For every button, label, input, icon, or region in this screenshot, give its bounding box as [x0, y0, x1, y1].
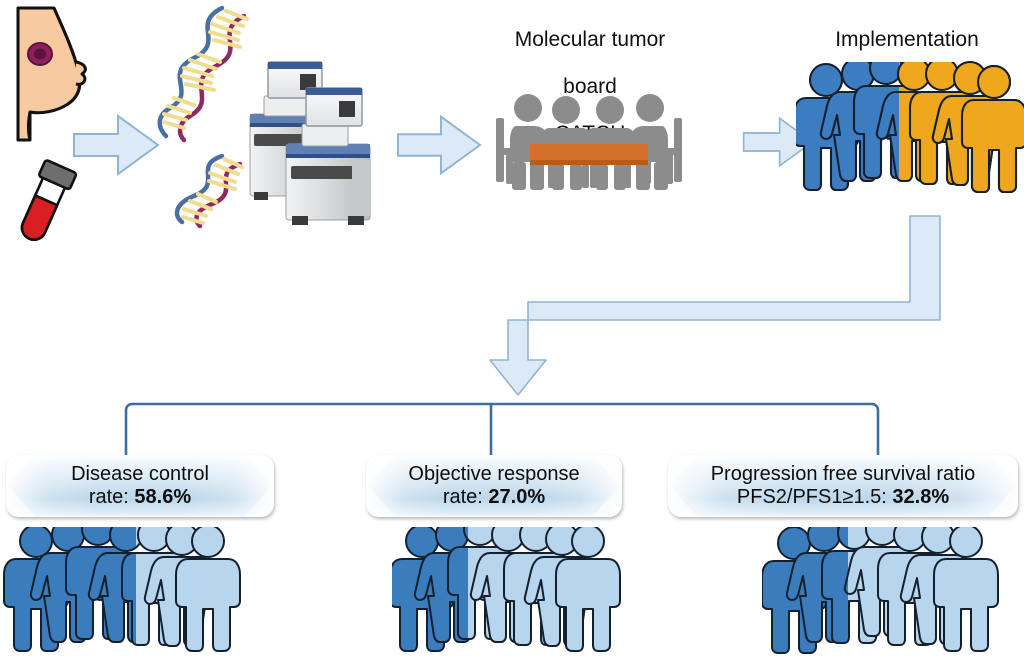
sequencer-icon [240, 52, 376, 228]
figure-canvas: Molecular tumor board CATCH [0, 0, 1024, 670]
implementation-line1: Implementation [792, 28, 1022, 52]
outcome-box-pfs-ratio[interactable]: Progression free survival ratio PFS2/PFS… [668, 455, 1018, 517]
outcome-line1: Disease control [71, 463, 209, 486]
outcome-box-text: Objective response rate: 27.0% [366, 455, 622, 517]
outcome-box-text: Disease control rate: 58.6% [6, 455, 274, 517]
outcome-value: 32.8% [892, 486, 949, 508]
meeting-table-icon [486, 82, 692, 194]
outcome-box-objective-response[interactable]: Objective response rate: 27.0% [366, 455, 622, 517]
dna-helix-small-icon [156, 150, 252, 230]
outcome-line1: Progression free survival ratio [711, 463, 976, 486]
outcome-prefix: PFS2/PFS1≥1.5: [737, 486, 893, 508]
outcome-box-text: Progression free survival ratio PFS2/PFS… [668, 455, 1018, 517]
arrow-specimen-to-sequencing [72, 112, 160, 178]
outcome-prefix: rate: [89, 486, 135, 508]
crowd-objective-response-icon [392, 527, 632, 670]
board-caption-line1: Molecular tumor [470, 28, 710, 52]
crowd-pfs-ratio-icon [762, 527, 1010, 670]
outcome-line1: Objective response [408, 463, 579, 486]
outcome-box-disease-control[interactable]: Disease control rate: 58.6% [6, 455, 274, 517]
outcome-line2: rate: 58.6% [89, 486, 191, 509]
crowd-disease-control-icon [2, 527, 254, 670]
arrow-cohort-to-outcomes [440, 210, 940, 400]
outcome-line2: PFS2/PFS1≥1.5: 32.8% [737, 486, 949, 509]
outcome-line2: rate: 27.0% [443, 486, 545, 509]
outcome-value: 58.6% [134, 486, 191, 508]
crowd-blue-orange-icon [796, 62, 1020, 220]
outcome-prefix: rate: [443, 486, 489, 508]
outcome-value: 27.0% [488, 486, 545, 508]
